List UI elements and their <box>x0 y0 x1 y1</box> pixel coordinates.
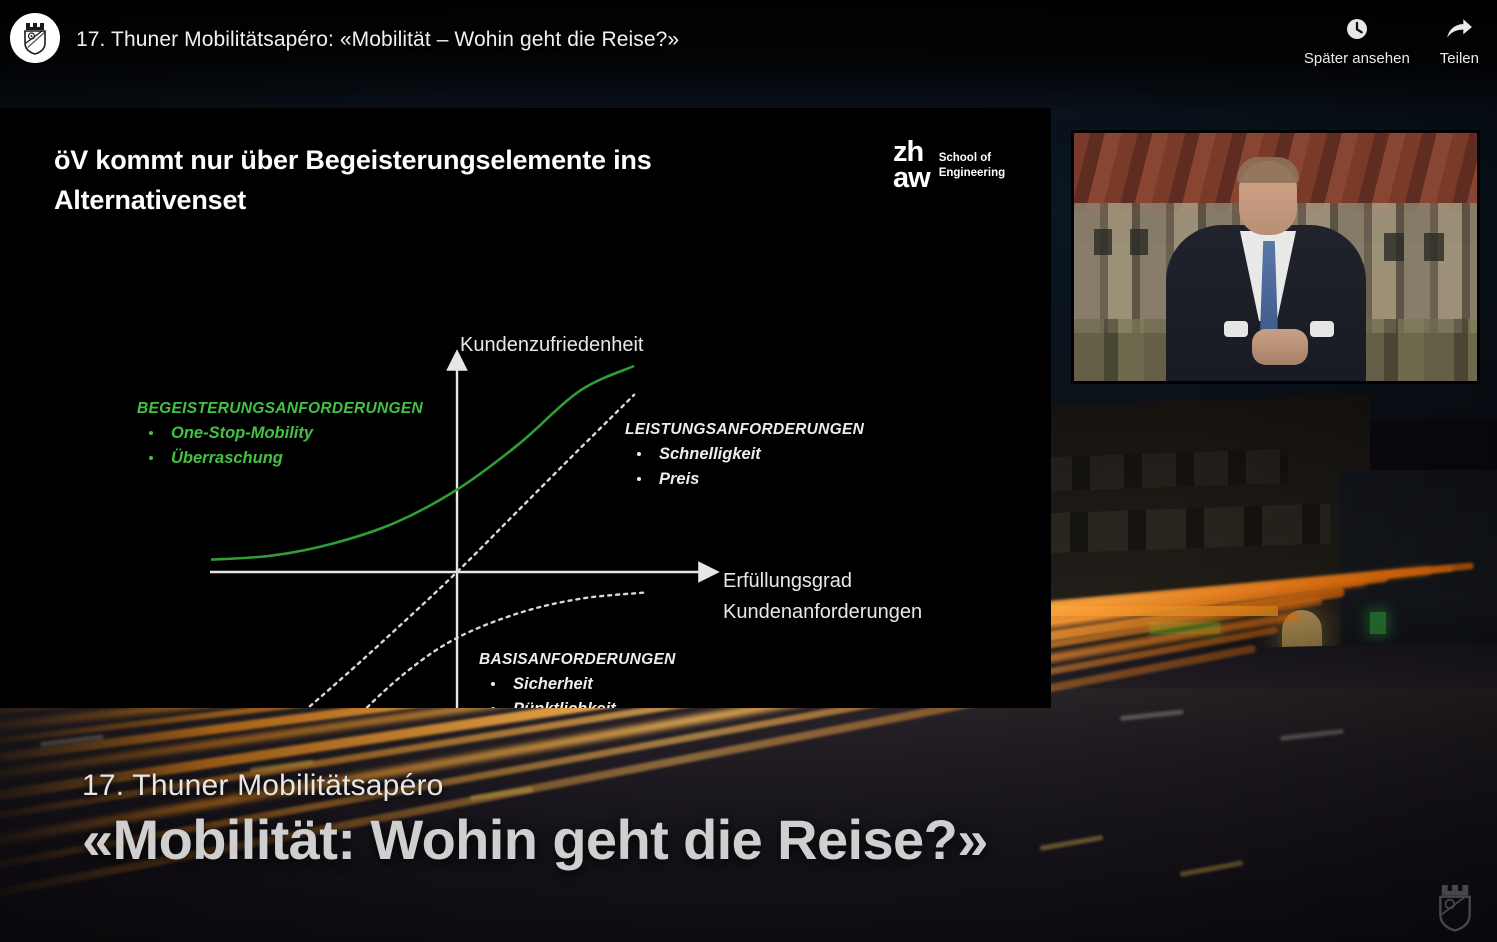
group-excitement-list: One-Stop-Mobility Überraschung <box>137 421 423 471</box>
coat-of-arms-svg <box>20 21 50 55</box>
list-item: Sicherheit <box>479 672 676 697</box>
thun-coat-of-arms-icon <box>1433 882 1477 932</box>
group-excitement: BEGEISTERUNGSANFORDERUNGEN One-Stop-Mobi… <box>137 400 423 471</box>
player-header: 17. Thuner Mobilitätsapéro: «Mobilität –… <box>0 0 1497 95</box>
x-axis-label-line2: Kundenanforderungen <box>723 597 922 628</box>
group-basic: BASISANFORDERUNGEN Sicherheit Pünktlichk… <box>479 651 676 708</box>
presentation-slide: öV kommt nur über Begeisterungselemente … <box>0 108 1051 708</box>
share-label: Teilen <box>1440 50 1479 67</box>
bottom-title-block: 17. Thuner Mobilitätsapéro «Mobilität: W… <box>82 769 988 872</box>
speaker-hair <box>1237 157 1299 183</box>
group-basic-list: Sicherheit Pünktlichkeit <box>479 672 676 708</box>
list-item: Überraschung <box>137 446 423 471</box>
speaker-cuff-left <box>1224 321 1248 337</box>
video-player-stage: 17. Thuner Mobilitätsapéro: «Mobilität –… <box>0 0 1497 942</box>
group-performance-heading: LEISTUNGSANFORDERUNGEN <box>625 421 864 439</box>
speaker-video-inset <box>1071 130 1480 384</box>
list-item: Schnelligkeit <box>625 442 864 467</box>
y-axis-label: Kundenzufriedenheit <box>460 334 643 357</box>
x-axis-label: Erfüllungsgrad Kundenanforderungen <box>723 566 922 628</box>
share-button[interactable]: Teilen <box>1440 14 1479 67</box>
list-item: One-Stop-Mobility <box>137 421 423 446</box>
watch-later-label: Später ansehen <box>1304 50 1410 67</box>
video-title: 17. Thuner Mobilitätsapéro: «Mobilität –… <box>76 28 679 52</box>
group-basic-heading: BASISANFORDERUNGEN <box>479 651 676 669</box>
speaker-hands <box>1252 329 1308 365</box>
watch-later-button[interactable]: Später ansehen <box>1304 14 1410 67</box>
group-performance: LEISTUNGSANFORDERUNGEN Schnelligkeit Pre… <box>625 421 864 492</box>
event-subtitle: 17. Thuner Mobilitätsapéro <box>82 769 988 803</box>
list-item: Pünktlichkeit <box>479 697 676 708</box>
group-excitement-heading: BEGEISTERUNGSANFORDERUNGEN <box>137 400 423 418</box>
header-actions: Später ansehen Teilen <box>1304 14 1479 67</box>
group-performance-list: Schnelligkeit Preis <box>625 442 864 492</box>
clock-icon <box>1344 14 1370 44</box>
share-arrow-icon <box>1445 14 1473 44</box>
thun-coat-of-arms-icon[interactable] <box>10 13 60 63</box>
list-item: Preis <box>625 467 864 492</box>
event-headline: «Mobilität: Wohin geht die Reise?» <box>82 807 988 872</box>
speaker-cuff-right <box>1310 321 1334 337</box>
x-axis-label-line1: Erfüllungsgrad <box>723 566 922 597</box>
